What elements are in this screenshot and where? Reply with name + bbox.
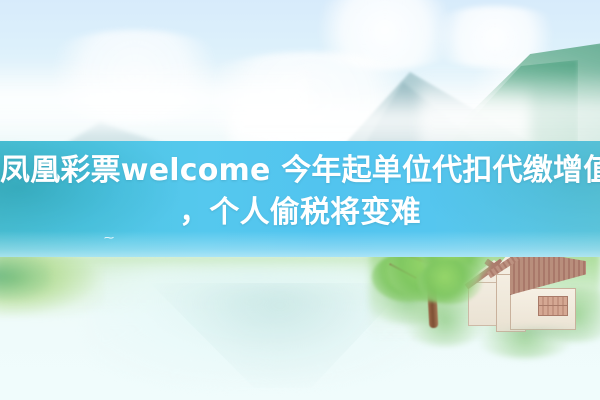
headline-line-1: 凤凰彩票welcome 今年起单位代扣代缴增值税 — [0, 150, 600, 192]
house-window — [538, 296, 568, 316]
mountain-layer — [0, 0, 600, 160]
foliage-left-dark — [0, 252, 50, 300]
headline-line-2: ，个人偷税将变难 — [0, 192, 600, 234]
mist-veil — [420, 70, 600, 150]
banner-band-fade — [0, 231, 600, 257]
banner-image: ⁓ 凤凰彩票welcome 今年起单位代扣代缴增值税 ，个人偷税将变难 — [0, 0, 600, 400]
house-window-bar — [538, 305, 568, 306]
house-shadow — [490, 326, 586, 340]
headline-text: 凤凰彩票welcome 今年起单位代扣代缴增值税 ，个人偷税将变难 — [0, 150, 600, 234]
bird-icon: ⁓ — [104, 236, 114, 242]
tree-canopy — [418, 260, 482, 304]
